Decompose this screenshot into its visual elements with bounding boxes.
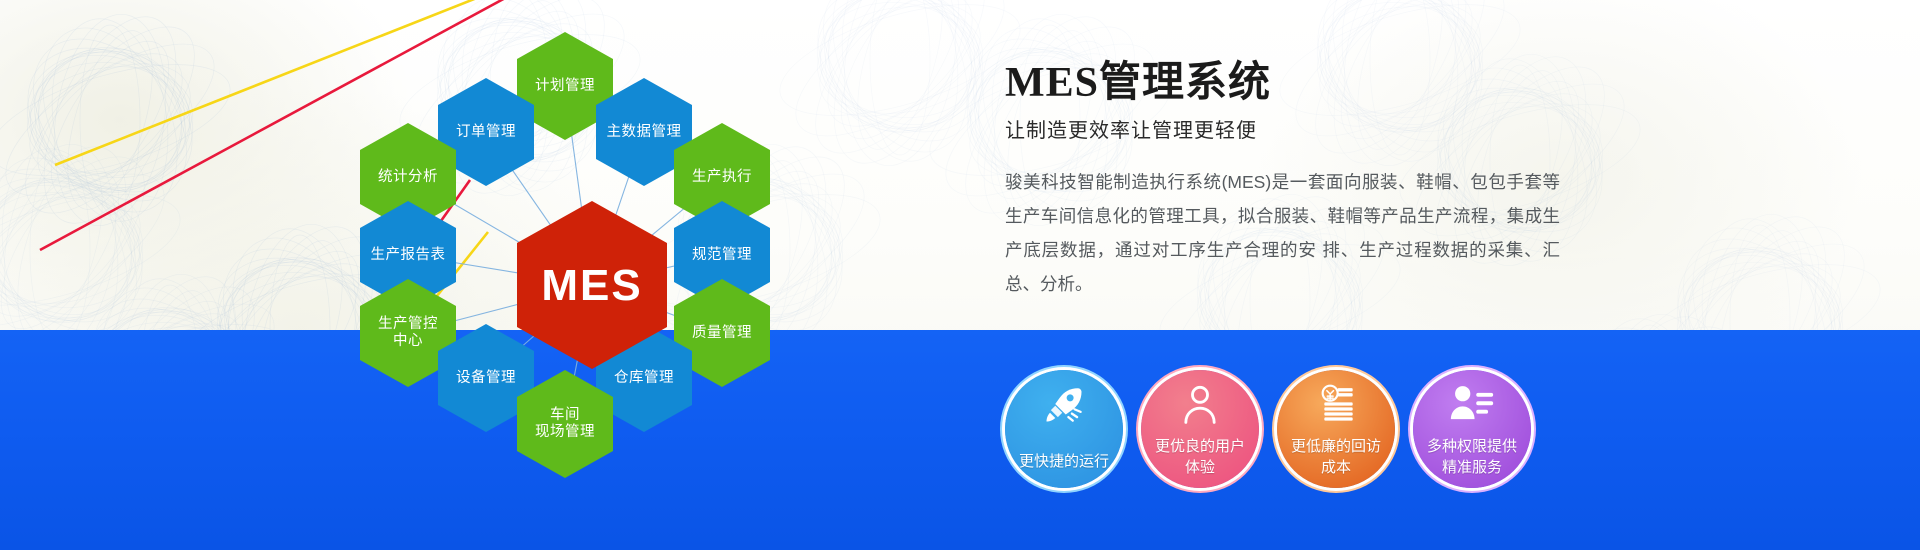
diagram-node-label: 质量管理 <box>692 325 752 342</box>
feature-badge[interactable]: 更快捷的运行 <box>1005 370 1123 488</box>
hero-text-block: MES管理系统 让制造更效率让管理更轻便 骏美科技智能制造执行系统(MES)是一… <box>1005 58 1605 301</box>
diagram-node-label: 仓库管理 <box>614 370 674 387</box>
background-bottom-blue <box>0 330 1920 550</box>
feature-badge[interactable]: 更优良的用户体验 <box>1141 370 1259 488</box>
diagram-node-label: 规范管理 <box>692 247 752 264</box>
feature-badge-label: 多种权限提供精准服务 <box>1420 436 1524 488</box>
mes-hexagon-diagram: 计划管理订单管理主数据管理统计分析生产执行生产报告表规范管理生产管控中心质量管理… <box>330 10 800 440</box>
feature-badge-label: 更优良的用户体验 <box>1148 436 1252 488</box>
diagram-node-label: 车间现场管理 <box>535 407 595 441</box>
feature-badge-list: 更快捷的运行更优良的用户体验更低廉的回访成本多种权限提供精准服务 <box>1005 370 1531 488</box>
diagram-node-label: 生产执行 <box>692 169 752 186</box>
diagram-node-label: 设备管理 <box>456 370 516 387</box>
diagram-node-label: 主数据管理 <box>607 124 682 141</box>
diagram-node-label: 订单管理 <box>456 124 516 141</box>
coins-icon <box>1277 383 1395 425</box>
diagram-node-label: 计划管理 <box>535 78 595 95</box>
diagram-node-label: 统计分析 <box>378 169 438 186</box>
rocket-icon <box>1005 383 1123 425</box>
feature-badge-label: 更低廉的回访成本 <box>1284 436 1388 488</box>
diagram-center-label: MES <box>541 277 642 294</box>
background-wave <box>0 318 1920 358</box>
feature-badge[interactable]: 多种权限提供精准服务 <box>1413 370 1531 488</box>
user-list-icon <box>1413 383 1531 423</box>
feature-badge-label: 更快捷的运行 <box>1012 451 1116 488</box>
diagram-node-label: 生产报告表 <box>371 247 446 264</box>
hero-description: 骏美科技智能制造执行系统(MES)是一套面向服装、鞋帽、包包手套等生产车间信息化… <box>1005 165 1560 301</box>
diagram-node-label: 生产管控中心 <box>378 316 438 350</box>
page-subtitle: 让制造更效率让管理更轻便 <box>1005 114 1605 143</box>
user-icon <box>1141 383 1259 425</box>
page-title: MES管理系统 <box>1005 58 1605 108</box>
hero-banner: 计划管理订单管理主数据管理统计分析生产执行生产报告表规范管理生产管控中心质量管理… <box>0 0 1920 550</box>
feature-badge[interactable]: 更低廉的回访成本 <box>1277 370 1395 488</box>
